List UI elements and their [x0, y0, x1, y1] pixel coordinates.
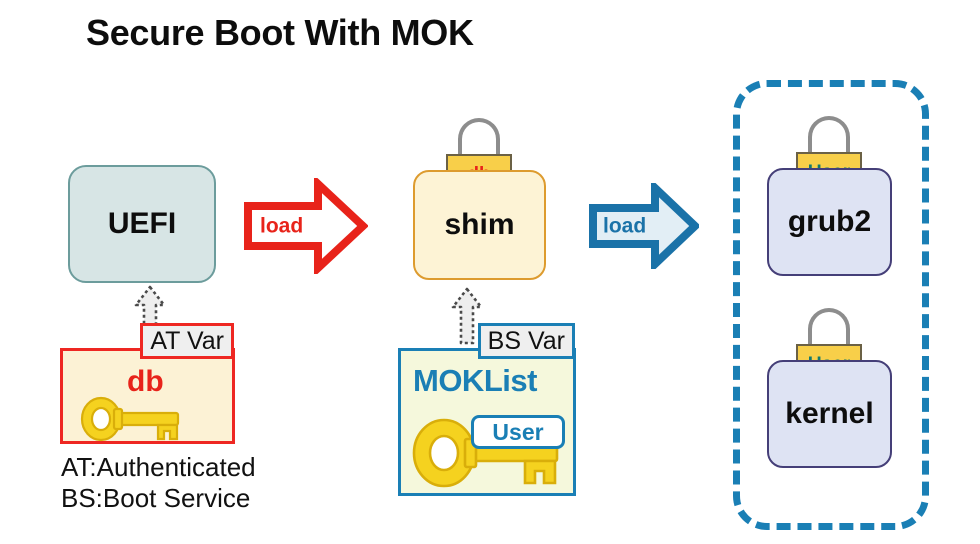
load-arrow-uefi-to-shim: load [244, 178, 368, 274]
bs-var-user-chip-label: User [492, 421, 543, 444]
at-var-content-label: db [127, 367, 164, 397]
load-arrow-shim-to-grub2: load [589, 183, 699, 269]
variable-tab-label-at: AT Var [140, 323, 234, 359]
load-arrow-label-red: load [260, 216, 303, 237]
stage-label-grub2: grub2 [788, 205, 871, 239]
page-title: Secure Boot With MOK [86, 12, 474, 54]
stage-box-uefi[interactable]: UEFI [68, 165, 216, 283]
variable-tab-label-bs: BS Var [478, 323, 575, 359]
stage-box-shim[interactable]: shim [413, 170, 546, 280]
stage-label-uefi: UEFI [108, 207, 176, 241]
legend: AT:Authenticated BS:Boot Service [61, 452, 256, 513]
bs-var-user-chip: User [471, 415, 565, 449]
stage-box-grub2[interactable]: grub2 [767, 168, 892, 276]
bs-var-content-label: MOKList [413, 365, 537, 396]
load-arrow-label-blue: load [603, 216, 646, 237]
variable-box-bs-var[interactable]: BS Var MOKList User [398, 348, 576, 496]
key-icon [80, 395, 190, 448]
diagram-canvas: Secure Boot With MOK UEFI load db shim l… [0, 0, 980, 544]
legend-line-bs: BS:Boot Service [61, 483, 256, 514]
legend-line-at: AT:Authenticated [61, 452, 256, 483]
stage-label-shim: shim [444, 208, 514, 242]
stage-box-kernel[interactable]: kernel [767, 360, 892, 468]
variable-box-at-var[interactable]: AT Var db [60, 348, 235, 444]
stage-label-kernel: kernel [785, 397, 873, 431]
